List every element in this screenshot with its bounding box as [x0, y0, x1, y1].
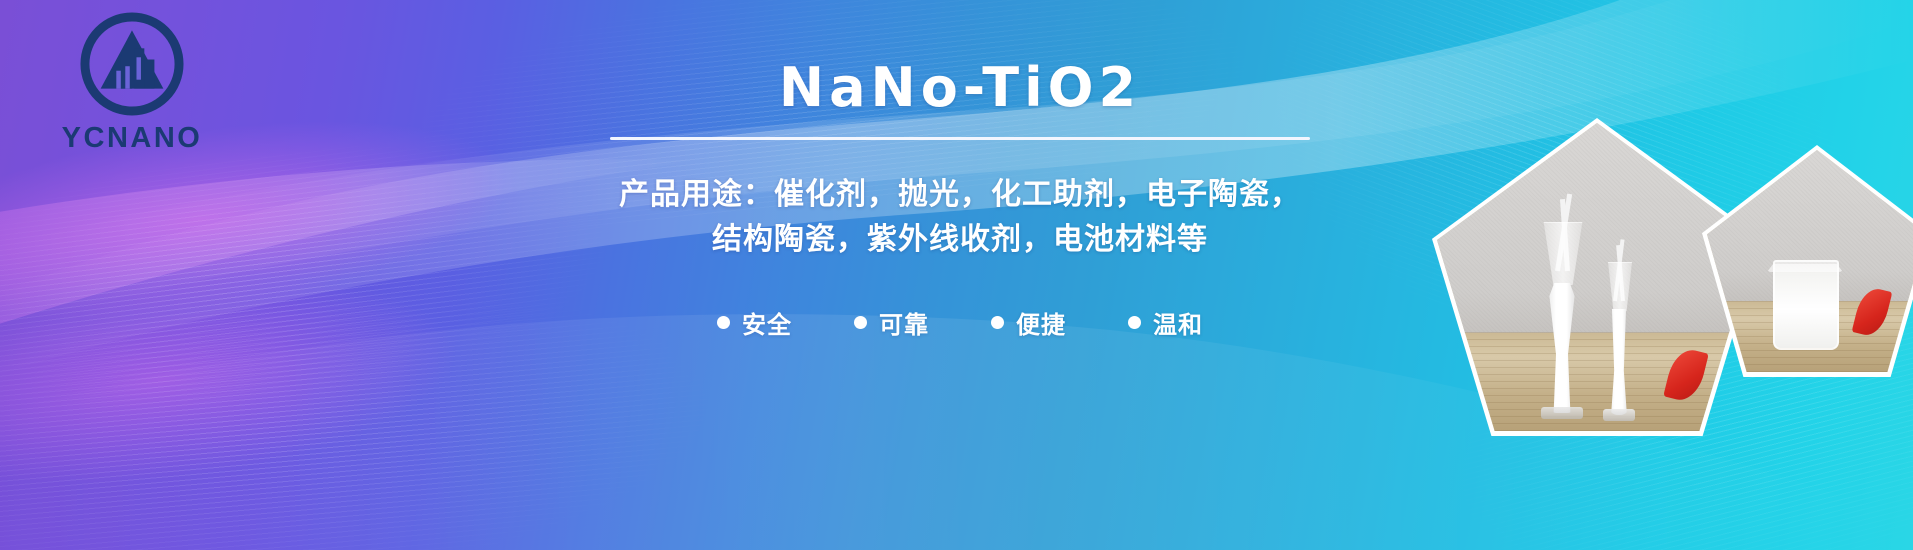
vase-tall-base: [1541, 407, 1583, 419]
usage-description: 产品用途：催化剂，抛光，化工助剂，电子陶瓷， 结构陶瓷，紫外线收剂，电池材料等: [490, 172, 1430, 263]
photo-scene: [1437, 123, 1757, 431]
product-banner: YCNANO NaNo-TiO2 产品用途：催化剂，抛光，化工助剂，电子陶瓷， …: [0, 0, 1913, 550]
feature-label: 便捷: [1016, 305, 1066, 340]
wood-table-texture: [1437, 332, 1757, 431]
photo-scene: [1707, 150, 1913, 372]
logo-wordmark: YCNANO: [42, 122, 222, 155]
bullet-dot-icon: [1128, 316, 1141, 329]
bullet-dot-icon: [991, 316, 1004, 329]
ycnano-monogram-icon: [76, 8, 188, 120]
feature-item-convenient: 便捷: [991, 305, 1066, 340]
beaker-spout: [1767, 264, 1843, 272]
feature-label: 可靠: [879, 305, 929, 340]
feature-label: 温和: [1153, 305, 1203, 340]
feature-label: 安全: [742, 305, 792, 340]
hero-content: NaNo-TiO2 产品用途：催化剂，抛光，化工助剂，电子陶瓷， 结构陶瓷，紫外…: [490, 60, 1430, 340]
bullet-dot-icon: [854, 316, 867, 329]
company-logo[interactable]: YCNANO: [42, 8, 222, 155]
usage-line-1: 产品用途：催化剂，抛光，化工助剂，电子陶瓷，: [490, 172, 1430, 218]
title-divider: [610, 137, 1310, 140]
product-photo-beaker[interactable]: [1702, 145, 1913, 377]
page-title: NaNo-TiO2: [490, 60, 1430, 117]
feature-item-mild: 温和: [1128, 305, 1203, 340]
product-photo-vases[interactable]: [1432, 118, 1762, 436]
wall-texture: [1437, 123, 1757, 332]
usage-line-2: 结构陶瓷，紫外线收剂，电池材料等: [490, 217, 1430, 263]
feature-item-reliable: 可靠: [854, 305, 929, 340]
vase-short-base: [1603, 409, 1635, 421]
beaker-with-white-liquid: [1773, 260, 1839, 350]
feature-item-safe: 安全: [717, 305, 792, 340]
bullet-dot-icon: [717, 316, 730, 329]
product-photo-beaker-frame: [1707, 150, 1913, 372]
product-photo-vases-frame: [1437, 123, 1757, 431]
pink-glow-lower: [0, 249, 469, 511]
feature-list: 安全 可靠 便捷 温和: [490, 305, 1430, 340]
